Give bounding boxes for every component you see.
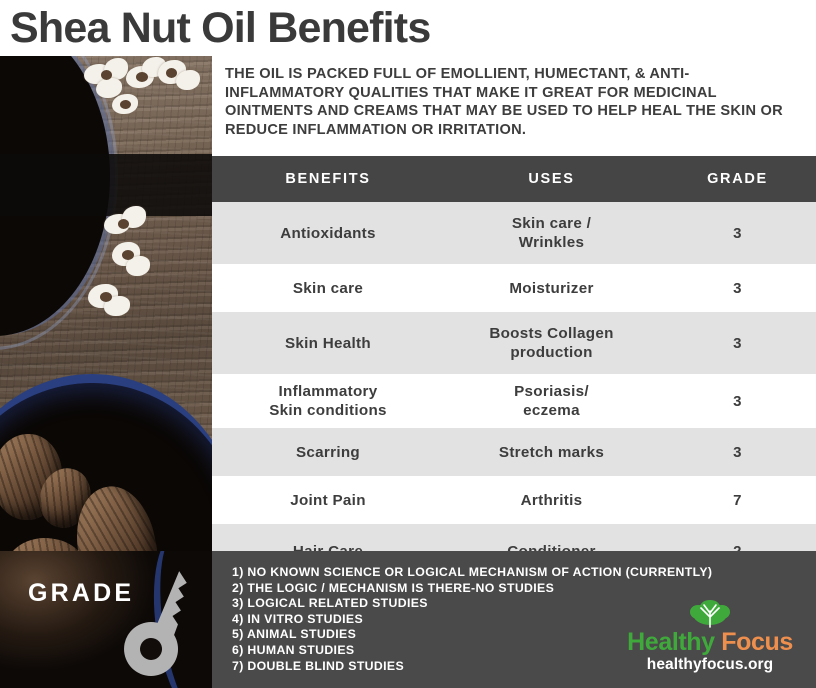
tree-icon — [688, 600, 732, 628]
footer-legend-band: GRADE 1) NO KNOWN SCIENCE OR LOGICAL MEC… — [0, 551, 816, 688]
cell-grade: 3 — [659, 279, 816, 298]
cell-benefit: Antioxidants — [212, 224, 444, 243]
table-row: InflammatorySkin conditionsPsoriasis/ecz… — [212, 374, 816, 428]
cell-benefit: InflammatorySkin conditions — [212, 382, 444, 420]
legend-item: 6) HUMAN STUDIES — [232, 643, 632, 659]
cell-grade: 3 — [659, 224, 816, 243]
intro-paragraph-block: The oil is packed full of emollient, hum… — [220, 60, 816, 156]
brand-name: Healthy Focus — [622, 629, 798, 655]
key-icon — [108, 569, 208, 677]
legend-item: 1) NO KNOWN SCIENCE OR LOGICAL MECHANISM… — [232, 565, 632, 581]
table-body: AntioxidantsSkin care /Wrinkles3Skin car… — [212, 202, 816, 578]
legend-item: 4) IN VITRO STUDIES — [232, 612, 632, 628]
infographic-root: Shea Nut Oil Benefits — [0, 0, 816, 688]
table-header-row: BENEFITS USES GRADE — [212, 156, 816, 202]
cell-benefit: Skin Health — [212, 334, 444, 353]
intro-text: The oil is packed full of emollient, hum… — [225, 65, 808, 139]
table-row: Joint PainArthritis7 — [212, 476, 816, 524]
table-row: ScarringStretch marks3 — [212, 428, 816, 476]
cell-use: Moisturizer — [444, 279, 659, 298]
column-header-benefits: BENEFITS — [212, 171, 444, 187]
title-bar: Shea Nut Oil Benefits — [0, 0, 816, 56]
grade-legend-list: 1) NO KNOWN SCIENCE OR LOGICAL MECHANISM… — [232, 565, 632, 674]
brand-name-focus: Focus — [721, 628, 793, 656]
cell-use: Psoriasis/eczema — [444, 382, 659, 420]
cell-use: Stretch marks — [444, 443, 659, 462]
cell-grade: 3 — [659, 443, 816, 462]
cell-use: Boosts Collagenproduction — [444, 324, 659, 362]
page-title: Shea Nut Oil Benefits — [10, 7, 430, 50]
cell-grade: 7 — [659, 491, 816, 510]
brand-name-healthy: Healthy — [627, 628, 715, 656]
cell-use: Arthritis — [444, 491, 659, 510]
table-row: Skin careMoisturizer3 — [212, 264, 816, 312]
cell-benefit: Skin care — [212, 279, 444, 298]
cell-benefit: Joint Pain — [212, 491, 444, 510]
brand-logo[interactable]: Healthy Focus healthyfocus.org — [622, 600, 798, 674]
legend-item: 7) DOUBLE BLIND STUDIES — [232, 659, 632, 675]
column-header-uses: USES — [444, 171, 659, 187]
photo-shadow-band — [0, 154, 212, 216]
column-header-grade: GRADE — [659, 171, 816, 187]
cell-benefit: Scarring — [212, 443, 444, 462]
cell-use: Skin care /Wrinkles — [444, 214, 659, 252]
cell-grade: 3 — [659, 392, 816, 411]
legend-item: 2) THE LOGIC / MECHANISM IS THERE-NO STU… — [232, 581, 632, 597]
legend-item: 3) LOGICAL RELATED STUDIES — [232, 596, 632, 612]
cell-grade: 3 — [659, 334, 816, 353]
legend-item: 5) ANIMAL STUDIES — [232, 627, 632, 643]
brand-url: healthyfocus.org — [622, 656, 798, 674]
table-row: AntioxidantsSkin care /Wrinkles3 — [212, 202, 816, 264]
benefits-table: BENEFITS USES GRADE AntioxidantsSkin car… — [212, 156, 816, 578]
table-row: Skin HealthBoosts Collagenproduction3 — [212, 312, 816, 374]
